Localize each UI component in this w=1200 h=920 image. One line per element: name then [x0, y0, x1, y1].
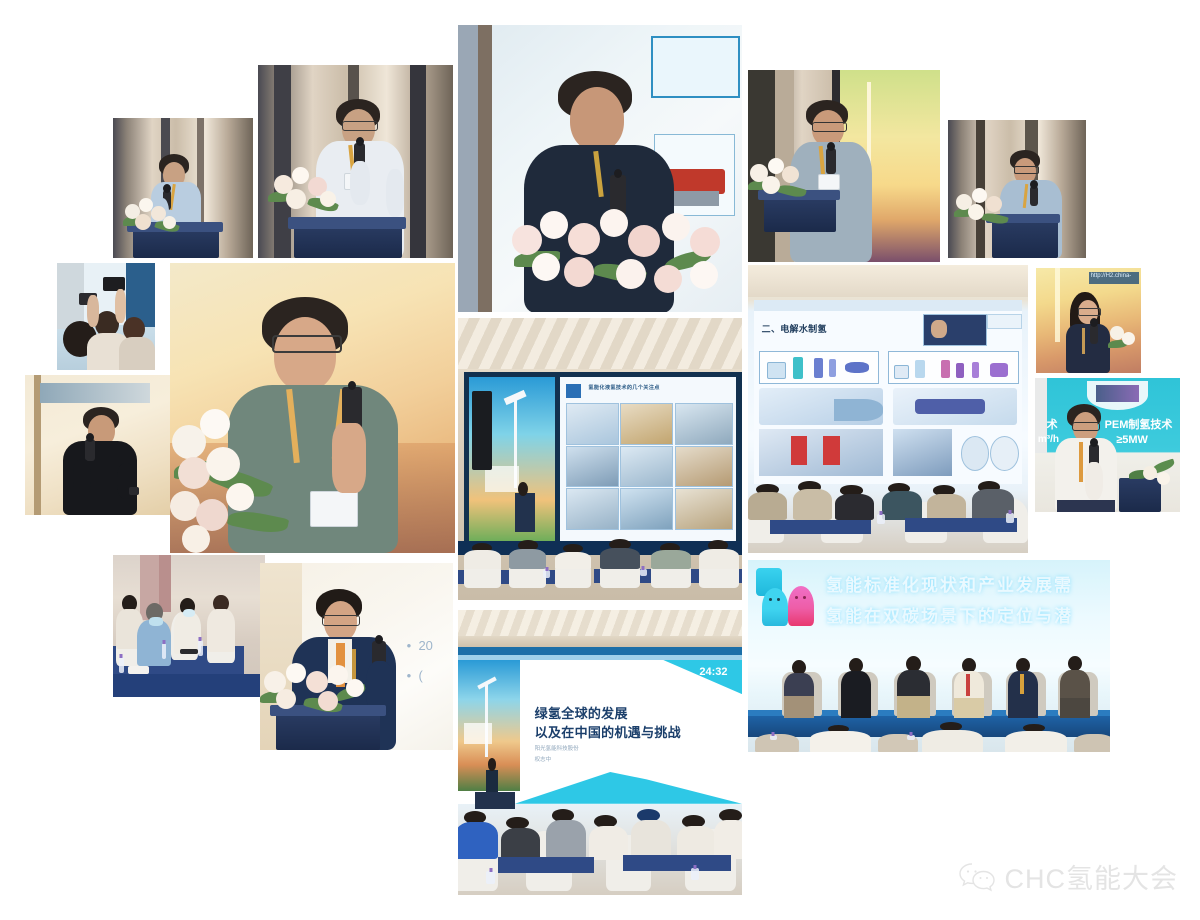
- photo-hall-wide-technology-slide: 氢能化液氢技术的几个关注点: [458, 318, 742, 600]
- photo-audience-phone-photos: [57, 263, 155, 370]
- photo-panel-discussion-six-panelists: 氢能标准化现状和产业发展需 氢能在双碳场景下的定位与潜: [748, 560, 1110, 752]
- photo-speaker-light-blue-shirt-small: [113, 118, 253, 258]
- wechat-logo-icon: [958, 861, 996, 893]
- mascot-blue: [762, 588, 788, 626]
- photo-senior-speaker-suit-orange-tie: • 20 • (: [260, 563, 453, 750]
- slide-timer: 24:32: [699, 666, 727, 678]
- pem-slide-line2: ≥5MW: [1116, 434, 1148, 446]
- photo-speaker-blue-shirt-podium: [948, 120, 1086, 258]
- photo-collage: 氢能化液氢技术的几个关注点: [0, 0, 1200, 920]
- sunset-banner-url: http://H2.china-: [1091, 273, 1132, 279]
- pem-slide-line3: m³/h: [1038, 434, 1059, 445]
- photo-speaker-navy-polo-main: [458, 25, 742, 312]
- panel-banner-line2: 氢能在双碳场景下的定位与潜: [826, 602, 1073, 627]
- pem-slide-line1: PEM制氢技术: [1105, 416, 1173, 432]
- slide-title-line1: 绿氢全球的发展: [535, 703, 628, 722]
- mascot-pink: [788, 586, 814, 626]
- photo-green-hydrogen-slide-hall: 24:32 绿氢全球的发展 以及在中国的机遇与挑战 阳光氢能科技股份 权志中: [458, 610, 742, 895]
- photo-speaker-pem-slide: PEM制氢技术 ≥5MW m³/h 术: [1035, 378, 1180, 512]
- photo-speaker-glasses-white-shirt: [258, 65, 453, 258]
- photo-speaker-green-polo-portrait: [170, 263, 455, 553]
- watermark-text: CHC氢能大会: [1005, 857, 1179, 896]
- photo-speaker-black-polo: [25, 375, 170, 515]
- photo-speaker-grey-shirt-sunset-screen: [748, 70, 940, 262]
- watermark: CHC氢能大会: [958, 857, 1179, 896]
- photo-audience-seated-blue-tables: [113, 555, 265, 697]
- slide-heading-technology: 氢能化液氢技术的几个关注点: [588, 384, 659, 391]
- slide-subtitle-line1: 阳光氢能科技股份: [535, 744, 579, 752]
- slide-subtitle-line2: 权志中: [535, 755, 552, 763]
- photo-female-speaker-sunset-banner: http://H2.china-: [1036, 268, 1141, 373]
- slide-heading-electrolysis: 二、电解水制氢: [762, 322, 827, 335]
- panel-banner-line1: 氢能标准化现状和产业发展需: [826, 571, 1073, 596]
- slide-title-line2: 以及在中国的机遇与挑战: [535, 722, 681, 741]
- photo-electrolysis-slide-audience: 二、电解水制氢: [748, 265, 1028, 553]
